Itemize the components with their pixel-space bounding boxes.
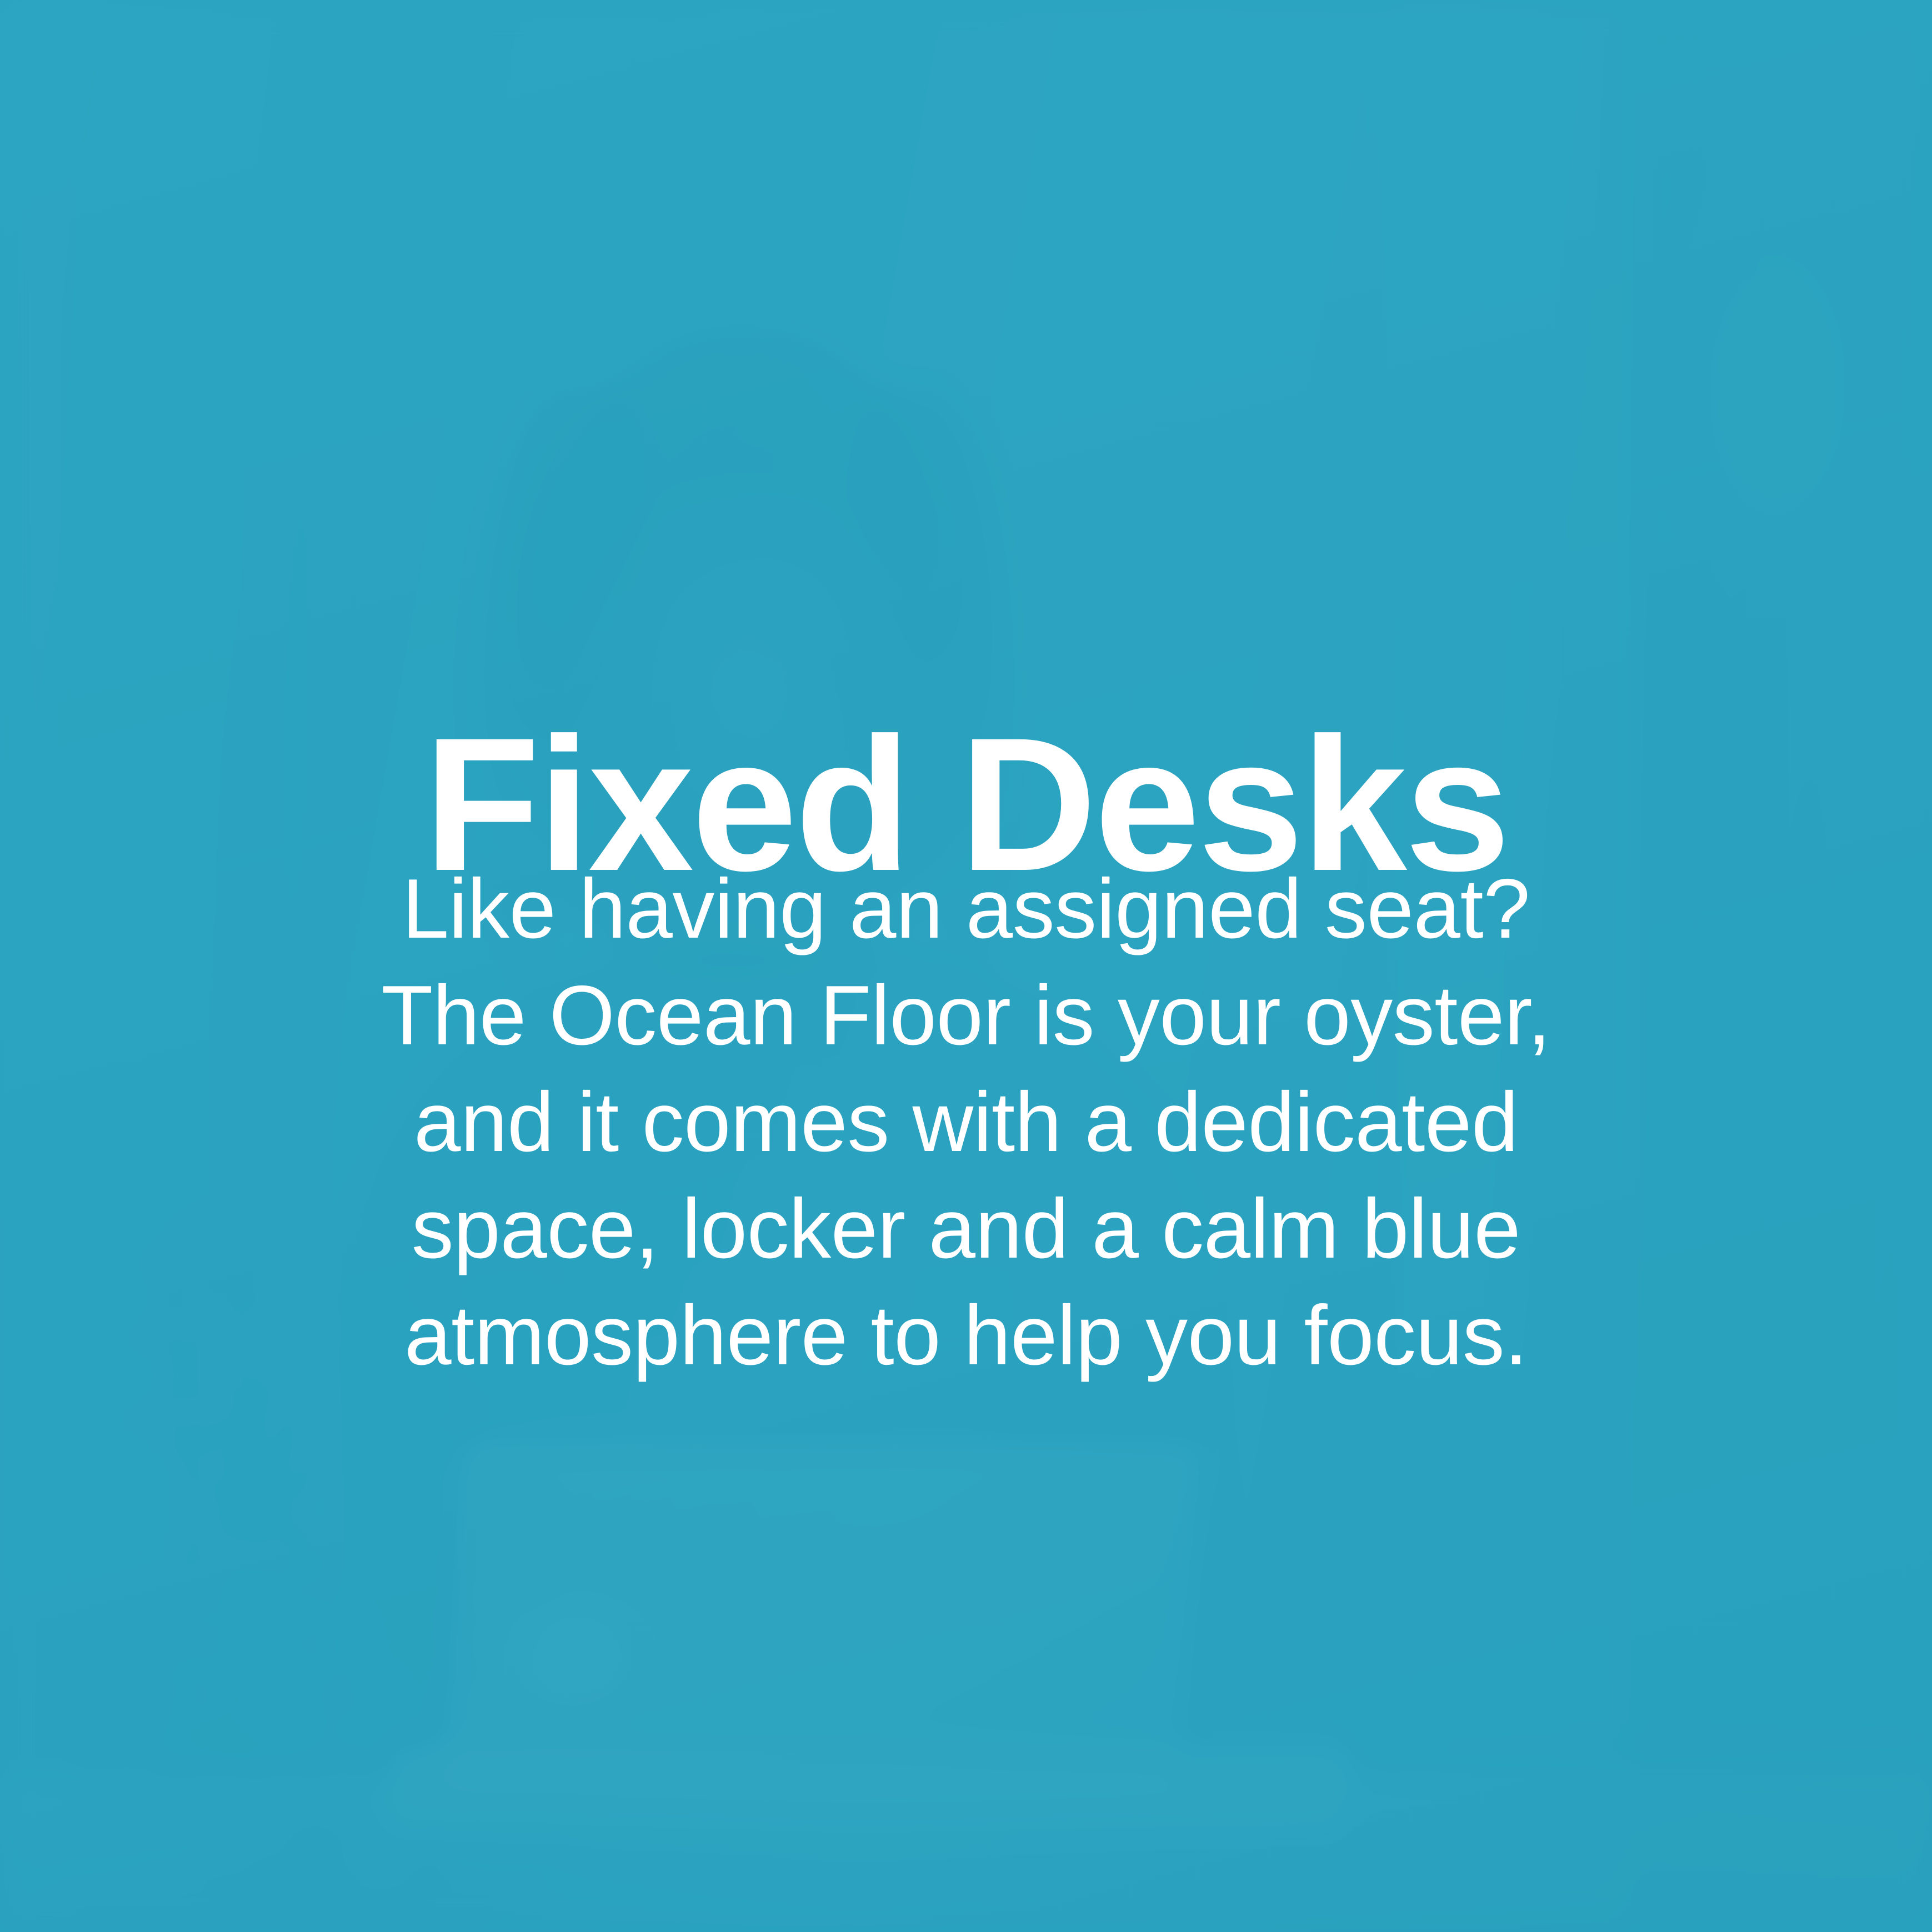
description-line-3: and it comes with a dedicated (0, 1069, 1932, 1175)
promo-card: Fixed Desks Like having an assigned seat… (0, 0, 1932, 1932)
description-line-2: The Ocean Floor is your oyster, (0, 962, 1932, 1069)
description-line-5: atmosphere to help you focus. (0, 1282, 1932, 1389)
description-line-4: space, locker and a calm blue (0, 1175, 1932, 1282)
card-content: Fixed Desks Like having an assigned seat… (0, 0, 1932, 1932)
card-description: Like having an assigned seat? The Ocean … (0, 855, 1932, 1389)
description-line-1: Like having an assigned seat? (0, 855, 1932, 962)
